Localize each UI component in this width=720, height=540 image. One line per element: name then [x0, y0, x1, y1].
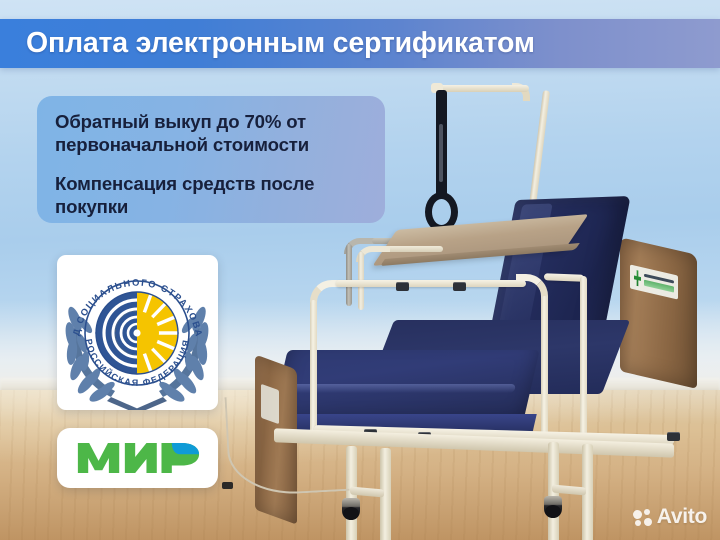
medical-cross-icon: [634, 269, 641, 287]
caster-1: [342, 498, 360, 520]
avito-dots-icon: [633, 509, 652, 526]
fss-emblem: [96, 292, 178, 374]
listing-image: Оплата электронным сертификатом Обратный…: [0, 0, 720, 540]
side-rail-post-right: [580, 276, 587, 442]
avito-watermark: Avito: [633, 505, 707, 529]
fss-logo-svg: ФОНД СОЦИАЛЬНОГО СТРАХОВАНИЯ РОССИЙСКАЯ …: [57, 255, 218, 410]
mir-blue-swoosh: [171, 443, 198, 454]
headboard-head: [620, 237, 697, 389]
side-rail-top-bar-2: [544, 273, 584, 281]
fss-logo: ФОНД СОЦИАЛЬНОГО СТРАХОВАНИЯ РОССИЙСКАЯ …: [57, 255, 218, 410]
mir-logo-card: [57, 428, 218, 488]
side-rail-post-mid: [541, 296, 548, 442]
avito-wordmark: Avito: [657, 505, 707, 529]
rail-clamp-1: [396, 282, 409, 291]
trapeze-strap-slot: [439, 124, 443, 182]
power-plug: [222, 482, 233, 489]
rail-clamp-2: [453, 282, 466, 291]
benefits-panel: Обратный выкуп до 70% от первоначальной …: [37, 96, 385, 223]
mir-logo: [57, 428, 218, 488]
title-banner: Оплата электронным сертификатом: [0, 19, 720, 68]
power-cord: [224, 391, 349, 497]
fss-logo-card: ФОНД СОЦИАЛЬНОГО СТРАХОВАНИЯ РОССИЙСКАЯ …: [57, 255, 218, 410]
caster-3: [544, 496, 562, 518]
trapeze-arm: [437, 85, 529, 92]
rear-rail: [346, 244, 352, 306]
benefit-item-1: Обратный выкуп до 70% от первоначальной …: [55, 110, 369, 157]
side-rail-top-bar-1: [336, 280, 526, 287]
benefit-item-2: Компенсация средств после покупки: [55, 172, 369, 219]
mir-letter-i: [124, 443, 156, 473]
overbed-table-arm: [385, 246, 443, 252]
mir-letter-m: [77, 443, 118, 473]
page-title: Оплата электронным сертификатом: [0, 27, 535, 60]
mir-logo-svg: [76, 439, 200, 477]
rail-clamp-5: [667, 432, 680, 441]
